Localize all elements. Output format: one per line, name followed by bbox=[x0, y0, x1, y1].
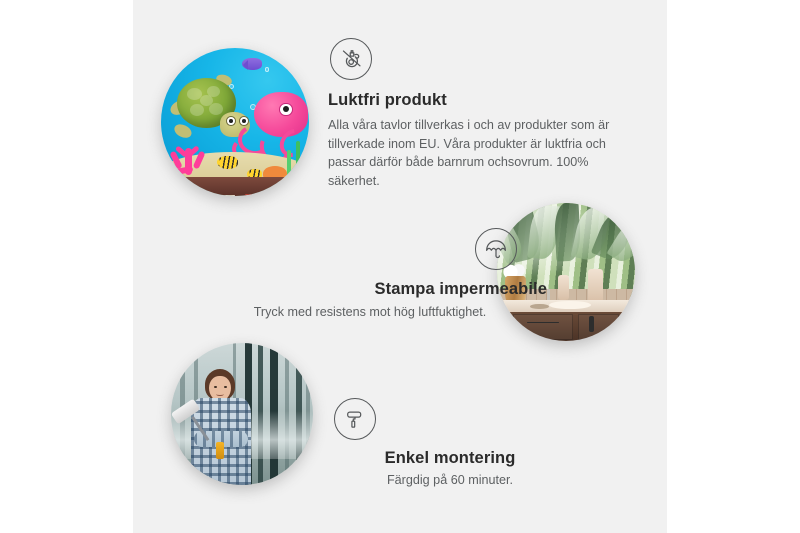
no-fragrance-icon bbox=[330, 38, 372, 80]
umbrella-icon bbox=[475, 228, 517, 270]
feature-description: Färgdig på 60 minuter. bbox=[302, 471, 598, 490]
feature-infographic-panel: Luktfri produkt Alla våra tavlor tillver… bbox=[133, 0, 667, 533]
woman-face bbox=[209, 376, 230, 402]
seaweed-icon bbox=[296, 141, 300, 177]
yellow-tool bbox=[216, 442, 223, 459]
feature-block-odourless: Luktfri produkt Alla våra tavlor tillver… bbox=[328, 38, 620, 191]
mural-bottom-band bbox=[161, 177, 309, 196]
feature-title: Luktfri produkt bbox=[328, 91, 620, 110]
feature-description: Tryck med resistens mot hög luftfuktighe… bbox=[193, 303, 547, 322]
seaweed-icon bbox=[287, 150, 291, 177]
feature-block-easy-install: Enkel montering Färgdig på 60 minuter. bbox=[328, 398, 598, 490]
octopus-eye bbox=[279, 103, 292, 116]
photo-cartoon-underwater-scene bbox=[161, 48, 309, 196]
coral-icon bbox=[167, 137, 208, 175]
feature-description: Alla våra tavlor tillverkas i och av pro… bbox=[328, 116, 615, 191]
yellow-fish-icon bbox=[217, 156, 238, 169]
woman-eye bbox=[214, 386, 217, 388]
feature-title: Stampa impermeabile bbox=[193, 280, 547, 299]
paint-roller-icon bbox=[334, 398, 376, 440]
turtle-eye bbox=[226, 116, 236, 126]
photo-woman-with-paint-roller bbox=[171, 343, 313, 485]
soap-bottle bbox=[558, 275, 569, 300]
feature-title: Enkel montering bbox=[302, 449, 598, 468]
feature-block-waterproof: Stampa impermeabile Tryck med resistens … bbox=[193, 228, 547, 322]
soap-dispenser bbox=[588, 269, 603, 302]
woman-eye bbox=[224, 386, 227, 388]
purple-fish-icon bbox=[242, 58, 261, 70]
turtle-eye bbox=[239, 116, 249, 126]
bubble-icon bbox=[265, 67, 269, 71]
